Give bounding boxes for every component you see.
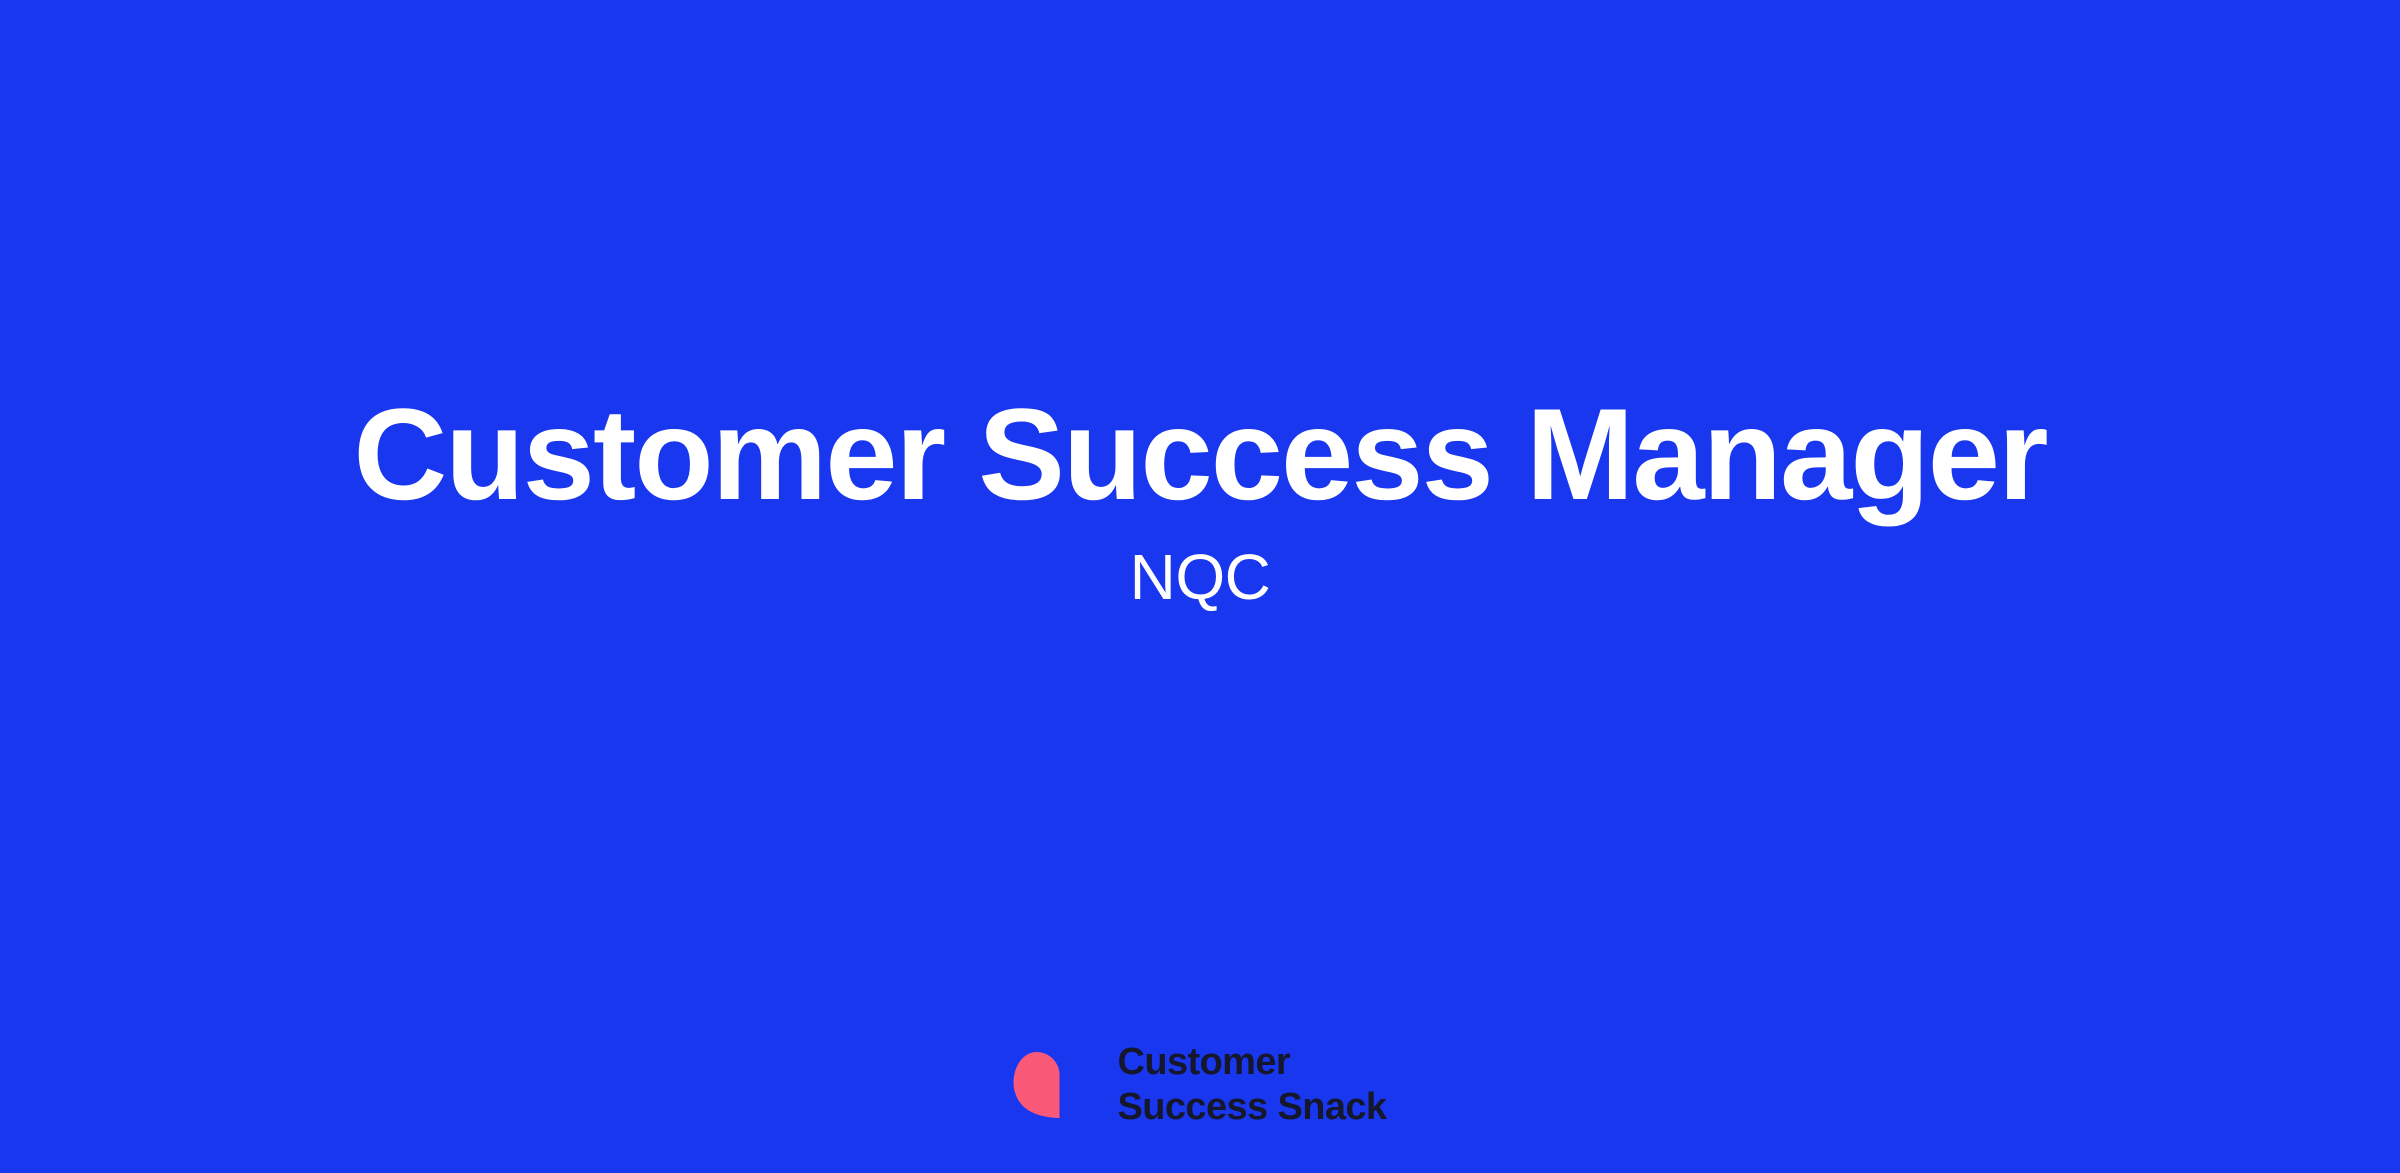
brand-wordmark-line-2: Success Snack	[1118, 1085, 1387, 1130]
presentation-slide: Customer Success Manager NQC Customer Su…	[0, 0, 2400, 1173]
brand-wordmark: Customer Success Snack	[1118, 1040, 1387, 1130]
brand-lockup: Customer Success Snack	[1014, 1040, 1387, 1130]
brand-wordmark-line-1: Customer	[1118, 1040, 1387, 1085]
title-block: Customer Success Manager NQC	[0, 386, 2400, 612]
slide-subtitle: NQC	[1130, 542, 1271, 612]
teardrop-logo-icon	[1014, 1052, 1060, 1118]
page-title: Customer Success Manager	[353, 386, 2046, 524]
